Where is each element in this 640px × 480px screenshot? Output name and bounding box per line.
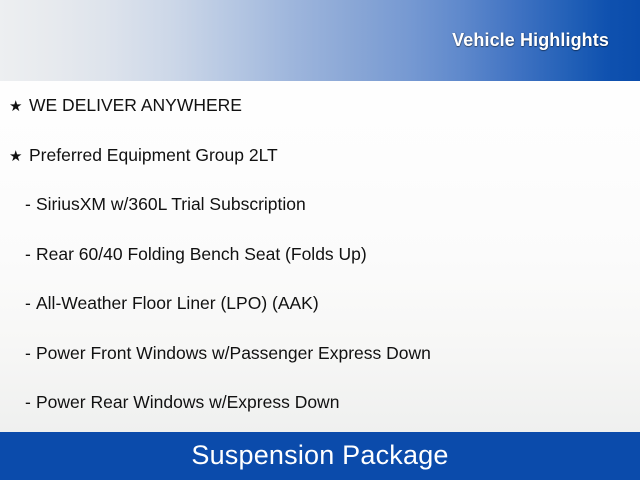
list-item: ★ WE DELIVER ANYWHERE bbox=[0, 95, 640, 145]
list-item-label: Preferred Equipment Group 2LT bbox=[29, 145, 278, 165]
list-item: ★ Preferred Equipment Group 2LT bbox=[0, 145, 640, 195]
dash-bullet-icon: - bbox=[25, 343, 36, 363]
star-bullet-icon: ★ bbox=[9, 97, 29, 117]
star-bullet-icon: ★ bbox=[9, 147, 29, 167]
dash-bullet-icon: - bbox=[25, 293, 36, 313]
list-item-label: Power Front Windows w/Passenger Express … bbox=[36, 343, 431, 363]
list-item-label: WE DELIVER ANYWHERE bbox=[29, 95, 242, 115]
highlights-list: ★ WE DELIVER ANYWHERE ★ Preferred Equipm… bbox=[0, 95, 640, 432]
list-item-label: Power Rear Windows w/Express Down bbox=[36, 392, 339, 412]
footer-title: Suspension Package bbox=[191, 442, 448, 469]
dash-bullet-icon: - bbox=[25, 244, 36, 264]
vehicle-highlights-slide: Vehicle Highlights ★ WE DELIVER ANYWHERE… bbox=[0, 0, 640, 480]
list-item: - All-Weather Floor Liner (LPO) (AAK) bbox=[0, 293, 640, 343]
list-item: - SiriusXM w/360L Trial Subscription bbox=[0, 194, 640, 244]
footer-banner: Suspension Package bbox=[0, 432, 640, 480]
list-item: - Rear 60/40 Folding Bench Seat (Folds U… bbox=[0, 244, 640, 294]
dash-bullet-icon: - bbox=[25, 194, 36, 214]
list-item-label: SiriusXM w/360L Trial Subscription bbox=[36, 194, 306, 214]
list-item-label: All-Weather Floor Liner (LPO) (AAK) bbox=[36, 293, 319, 313]
highlights-panel: ★ WE DELIVER ANYWHERE ★ Preferred Equipm… bbox=[0, 81, 640, 432]
header-banner: Vehicle Highlights bbox=[0, 0, 640, 81]
list-item: - Power Front Windows w/Passenger Expres… bbox=[0, 343, 640, 393]
list-item-label: Rear 60/40 Folding Bench Seat (Folds Up) bbox=[36, 244, 367, 264]
dash-bullet-icon: - bbox=[25, 392, 36, 412]
page-title: Vehicle Highlights bbox=[452, 31, 609, 49]
list-item: - Power Rear Windows w/Express Down bbox=[0, 392, 640, 432]
